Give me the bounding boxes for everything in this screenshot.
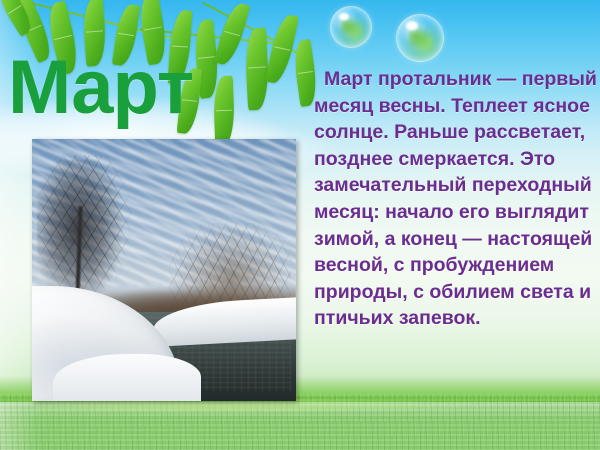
grass-strip <box>0 394 600 450</box>
bubble-reflection <box>409 29 433 51</box>
page-title: Март <box>8 50 193 126</box>
photo-bare-branches <box>37 155 132 302</box>
photo-snow-foreground <box>53 354 201 401</box>
body-text: Март протальник — первый месяц весны. Те… <box>300 66 600 332</box>
soap-bubble-icon <box>330 6 372 48</box>
leaf-icon <box>265 13 299 86</box>
bubble-reflection <box>341 19 362 38</box>
leaf-icon <box>213 76 235 147</box>
bubble-glint <box>339 13 349 20</box>
soap-bubble-icon <box>396 14 444 62</box>
slide-canvas: Март Март протальник — первый месяц весн… <box>0 0 600 450</box>
winter-river-photo <box>32 139 296 401</box>
bubble-glint <box>406 21 418 29</box>
